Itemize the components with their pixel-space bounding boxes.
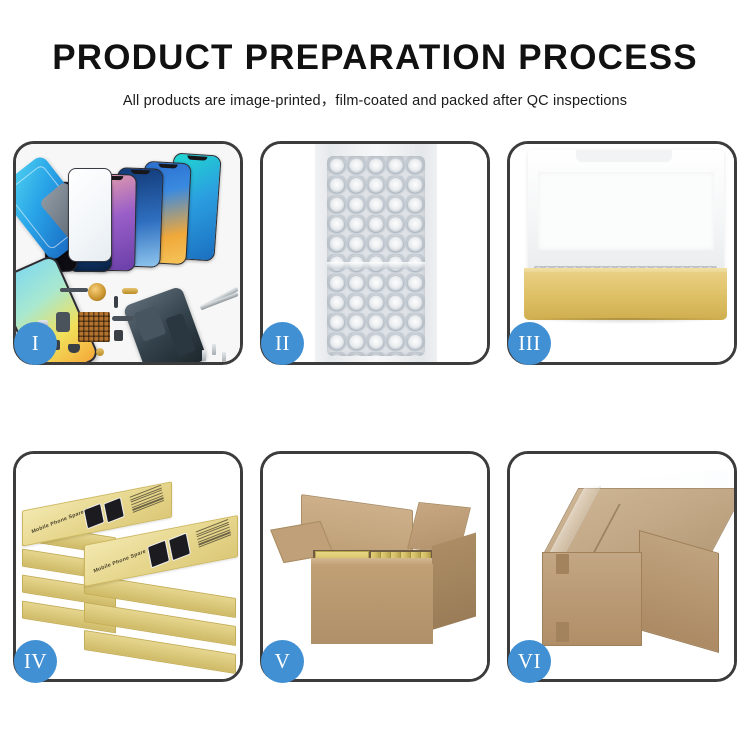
flex-cable-part xyxy=(56,312,70,332)
carton-front-panel xyxy=(311,564,433,644)
step-badge-4: IV xyxy=(14,640,57,683)
process-step-4[interactable]: Mobile Phone Spare Parts xyxy=(13,451,243,682)
copper-coil-part xyxy=(88,283,106,301)
kraft-inner-box xyxy=(524,272,727,320)
wrap-seam xyxy=(327,262,425,269)
flex-cable-part xyxy=(112,316,134,321)
button-part xyxy=(114,296,118,308)
bubble-wrap-sheet xyxy=(315,144,437,362)
process-step-3[interactable]: III xyxy=(507,141,737,365)
product-image xyxy=(103,497,125,524)
product-image xyxy=(168,532,191,561)
tempered-glass-film xyxy=(68,168,112,262)
notch-icon xyxy=(131,170,150,175)
screw-part xyxy=(202,350,206,361)
product-image xyxy=(147,539,170,568)
foam-padding-lid xyxy=(528,150,724,276)
screw-part xyxy=(212,344,216,355)
screw-part xyxy=(96,348,104,356)
box-spec-lines xyxy=(130,485,165,513)
box-spec-lines xyxy=(196,519,232,548)
process-step-6[interactable]: VI xyxy=(507,451,737,682)
page-header: PRODUCT PREPARATION PROCESS All products… xyxy=(0,0,750,110)
carton-side-panel xyxy=(432,533,476,630)
step-badge-2: II xyxy=(261,322,304,365)
process-step-2[interactable]: II xyxy=(260,141,490,365)
process-step-5[interactable]: V xyxy=(260,451,490,682)
retail-box-stack: Mobile Phone Spare Parts xyxy=(22,468,240,668)
page-title: PRODUCT PREPARATION PROCESS xyxy=(0,0,750,78)
flex-cable-part xyxy=(60,288,88,292)
screw-mat xyxy=(78,312,110,342)
box-shadow xyxy=(528,318,724,324)
step-badge-6: VI xyxy=(508,640,551,683)
notch-icon xyxy=(187,155,207,160)
notch-icon xyxy=(158,164,178,169)
bubble-wrapped-product xyxy=(327,156,425,356)
screw-part xyxy=(222,352,226,362)
step-badge-5: V xyxy=(261,640,304,683)
tape-tab xyxy=(556,554,569,574)
tape-tab xyxy=(556,622,569,642)
gold-connector-part xyxy=(122,288,138,294)
process-step-grid: I II III xyxy=(13,141,737,682)
page-subtitle: All products are image-printed，film-coat… xyxy=(0,78,750,110)
step-badge-1: I xyxy=(14,322,57,365)
process-step-1[interactable]: I xyxy=(13,141,243,365)
speaker-part xyxy=(68,344,80,353)
bubble-texture-outline xyxy=(327,156,425,356)
step-badge-3: III xyxy=(508,322,551,365)
camera-module-part xyxy=(114,330,123,341)
